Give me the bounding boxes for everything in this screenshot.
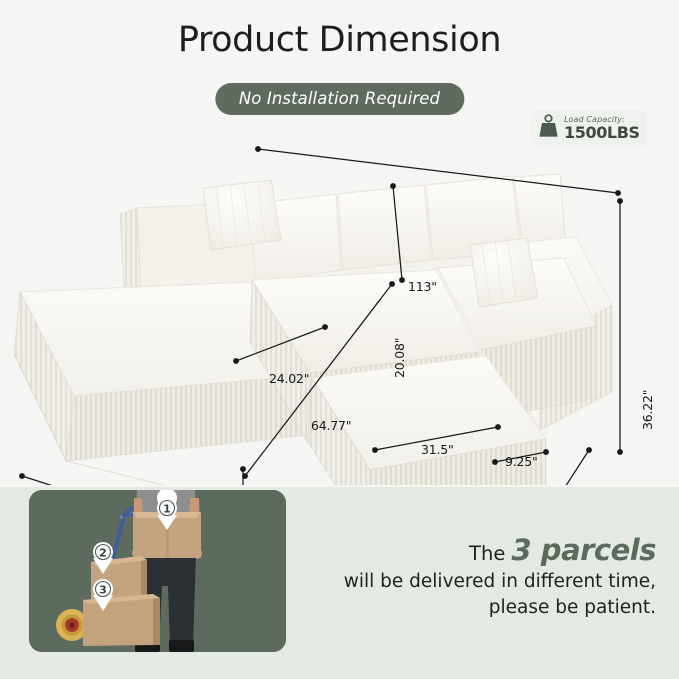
- sofa-dimension-diagram: 113" 20.08" 24.02" 36.22" 64.77" 31.5" 9…: [0, 130, 679, 485]
- svg-text:3: 3: [99, 583, 107, 596]
- product-dimension-infographic: Product Dimension No Installation Requir…: [0, 0, 679, 679]
- no-installation-badge: No Installation Required: [215, 83, 464, 115]
- svg-text:2: 2: [99, 546, 107, 559]
- parcel-note-line-2: will be delivered in different time,: [300, 569, 656, 595]
- sofa-throw-pillow-left: [203, 180, 281, 250]
- svg-text:1: 1: [163, 502, 171, 515]
- parcel-note-highlight: 3 parcels: [512, 533, 656, 567]
- page-title: Product Dimension: [0, 20, 679, 60]
- parcel-delivery-band: 1 2 3 The 3 parcels: [0, 487, 679, 679]
- parcel-note-line-3: please be patient.: [300, 596, 656, 620]
- dimension-label-overall-height: 36.22": [640, 390, 655, 430]
- dimension-label-seat-width-right: 31.5": [421, 442, 454, 457]
- dimension-label-overall-width: 113": [408, 279, 437, 294]
- dimension-label-armrest-width: 9.25": [505, 454, 538, 469]
- sofa-throw-pillow-right: [470, 238, 538, 307]
- dimension-label-backrest-height: 20.08": [392, 338, 407, 378]
- dimension-label-chaise-seat-depth: 24.02": [269, 371, 309, 386]
- parcel-delivery-photo: 1 2 3: [29, 490, 286, 652]
- parcel-note-line-1: The 3 parcels: [300, 535, 656, 565]
- dimension-label-chaise-length: 64.77": [311, 418, 351, 433]
- parcel-box-3: [83, 594, 160, 646]
- parcel-note: The 3 parcels will be delivered in diffe…: [300, 535, 656, 620]
- parcel-note-lead: The: [469, 542, 505, 565]
